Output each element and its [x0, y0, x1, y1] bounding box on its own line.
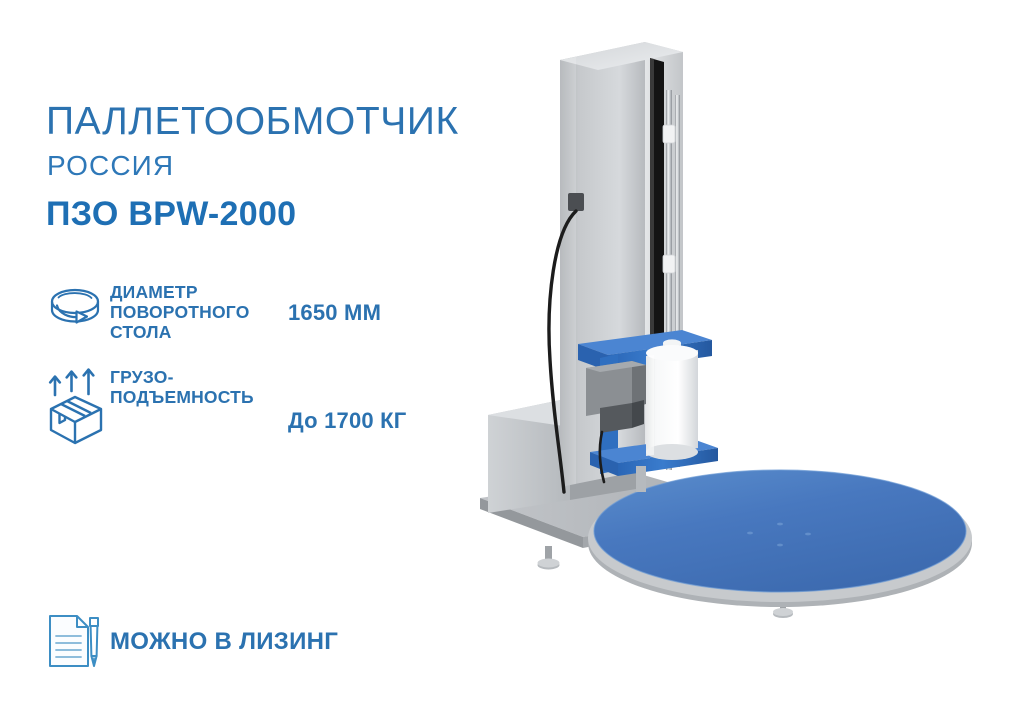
box-load-capacity-icon [46, 366, 110, 446]
spec-label-load-capacity: ГРУЗО- ПОДЪЕМНОСТЬ [110, 366, 288, 407]
spec-value-turntable-diameter: 1650 ММ [288, 281, 381, 324]
spec-row-load-capacity: ГРУЗО- ПОДЪЕМНОСТЬ До 1700 КГ [46, 366, 406, 446]
info-panel: ПАЛЛЕТООБМОТЧИК РОССИЯ ПЗО BPW-2000 ДИАМ… [46, 0, 466, 726]
country-subtitle: РОССИЯ [47, 152, 174, 180]
leasing-row: МОЖНО В ЛИЗИНГ [46, 612, 338, 670]
junction-box [568, 193, 584, 211]
pallet-wrapper-machine [450, 0, 1024, 726]
document-pen-icon [46, 612, 110, 670]
spec-row-turntable-diameter: ДИАМЕТР ПОВОРОТНОГО СТОЛА 1650 ММ [46, 281, 381, 342]
spec-label-turntable-diameter: ДИАМЕТР ПОВОРОТНОГО СТОЛА [110, 281, 288, 342]
rod-clamp [663, 125, 675, 143]
spec-value-load-capacity: До 1700 КГ [288, 366, 406, 432]
film-clamp-arm [636, 466, 646, 492]
film-roll [646, 339, 698, 460]
product-card: ПАЛЛЕТООБМОТЧИК РОССИЯ ПЗО BPW-2000 ДИАМ… [0, 0, 1024, 726]
model-name: ПЗО BPW-2000 [46, 197, 296, 231]
page-title: ПАЛЛЕТООБМОТЧИК [46, 102, 459, 141]
leveling-foot [538, 546, 560, 570]
leasing-label: МОЖНО В ЛИЗИНГ [110, 626, 338, 656]
turntable-rotation-icon [46, 281, 110, 339]
rod-clamp [663, 255, 675, 273]
